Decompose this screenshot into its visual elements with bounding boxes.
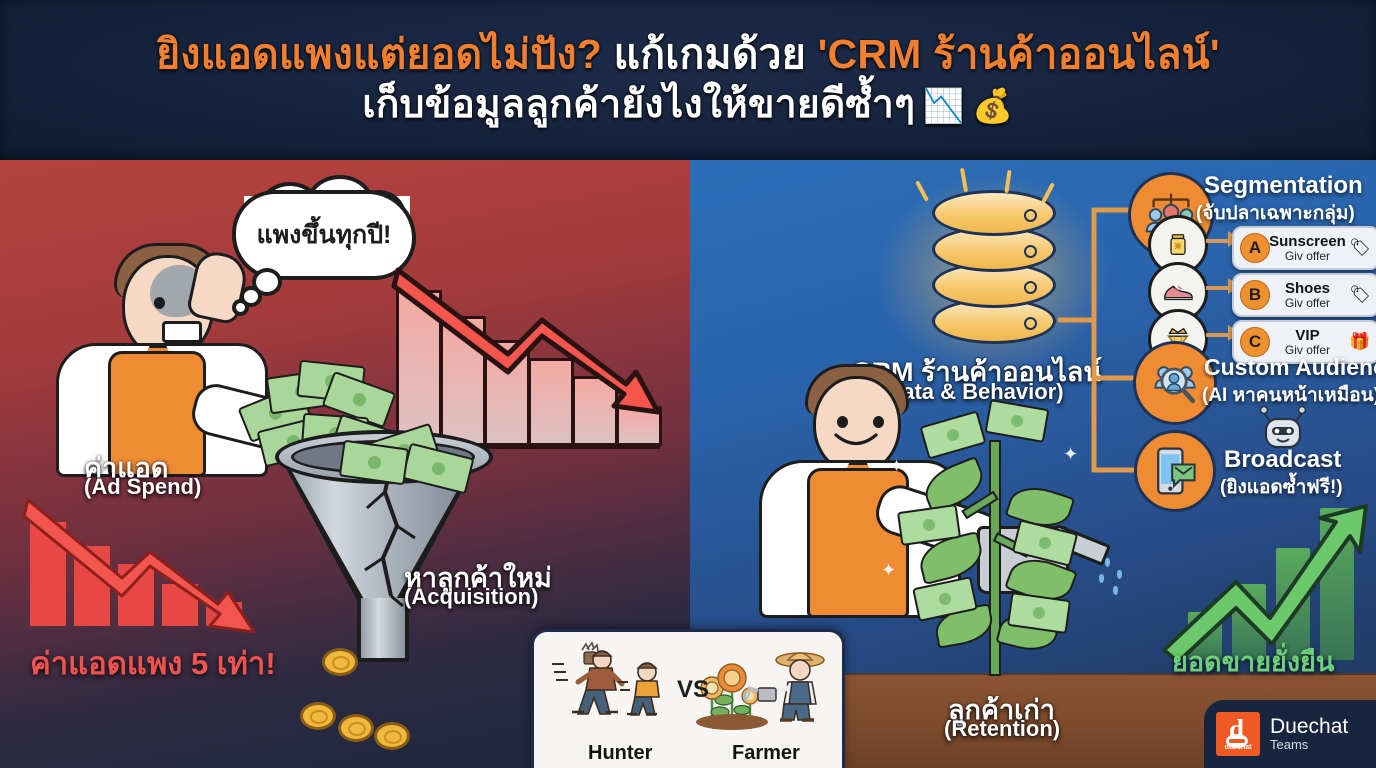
owner-eye-left — [154, 297, 165, 309]
hunter-figure — [552, 643, 622, 714]
arrow-b — [1206, 286, 1230, 290]
logo-mark-caption: duechat — [1220, 744, 1256, 752]
farmer-eye-left — [837, 416, 848, 428]
broadcast-title: Broadcast — [1224, 446, 1341, 474]
offer-badge-a: A — [1240, 233, 1270, 263]
farmer-small-figure — [744, 653, 824, 720]
offer-badge-c: C — [1240, 327, 1270, 357]
discount-tag-icon-a: 🏷 — [1347, 238, 1373, 258]
chart-down-emoji-icon: 📉 — [923, 89, 964, 122]
money-plant-illustration: ✦ ✦ ✦ — [905, 400, 1085, 680]
growth-label-th: ยอดขายยั่งยืน — [1172, 640, 1334, 683]
farmer-eye-right — [873, 416, 884, 428]
headline-line-1: ยิงแอดแพงแต่ยอดไม่ปัง? แก้เกมด้วย 'CRM ร… — [156, 29, 1220, 79]
sunscreen-glyph — [1164, 231, 1192, 259]
falling-coin-1 — [322, 648, 358, 676]
falling-coin-3 — [338, 714, 374, 742]
offer-badge-b: B — [1240, 280, 1270, 310]
header-banner: ยิงแอดแพงแต่ยอดไม่ปัง? แก้เกมด้วย 'CRM ร… — [0, 0, 1376, 160]
sparkle-3: ✦ — [881, 560, 896, 581]
leaky-funnel-illustration — [275, 430, 485, 660]
thought-bubble-text: แพงขึ้นทุกปี! — [257, 215, 392, 255]
arrow-a — [1206, 239, 1230, 243]
sparkle-2: ✦ — [1063, 444, 1078, 465]
brand-logo[interactable]: d duechat Duechat Teams — [1204, 700, 1376, 768]
headline-line-2: เก็บข้อมูลลูกค้ายังไงให้ขายดีซ้ำๆ 📉 💰 — [362, 79, 1013, 131]
segmentation-subtitle: (จับปลาเฉพาะกลุ่ม) — [1196, 198, 1355, 228]
offer-name-b: Shoes — [1268, 281, 1347, 296]
headline-bridge: แก้เกมด้วย — [614, 31, 806, 77]
headline-hook: ยิงแอดแพงแต่ยอดไม่ปัง? — [156, 31, 602, 77]
growing-sales-chart — [1160, 500, 1375, 660]
falling-coin-2 — [300, 702, 336, 730]
phone-message-icon — [1148, 444, 1202, 498]
acquisition-label-en: (Acquisition) — [404, 584, 538, 610]
farmer-smile — [833, 432, 879, 452]
ad-cost-decline-chart — [22, 492, 272, 634]
shoe-glyph — [1162, 280, 1194, 304]
headline-keyword: 'CRM ร้านค้าออนไลน์' — [818, 31, 1220, 77]
offer-card-b[interactable]: B Shoes Giv offer 🏷 — [1232, 273, 1376, 317]
sparkle-1: ✦ — [889, 456, 904, 477]
bubble-tail-3 — [232, 299, 249, 316]
small-down-chart-svg — [22, 492, 272, 634]
hunter-vs-farmer-card: VS Hunter Farmer — [531, 629, 845, 768]
offer-sub-a: Giv offer — [1268, 250, 1347, 262]
offer-card-a[interactable]: A Sunscreen Giv offer 🏷 — [1232, 226, 1376, 270]
owner-mouth — [162, 321, 202, 343]
headline-subline: เก็บข้อมูลลูกค้ายังไงให้ขายดีซ้ำๆ — [362, 79, 915, 131]
money-bag-emoji-icon: 💰 — [972, 89, 1013, 122]
crm-database-icon — [932, 190, 1050, 348]
arrow-c — [1206, 333, 1230, 337]
hunter-label: Hunter — [588, 742, 652, 765]
infographic-canvas: ยิงแอดแพงแต่ยอดไม่ปัง? แก้เกมด้วย 'CRM ร… — [0, 0, 1376, 768]
logo-brand-name: Duechat — [1270, 716, 1348, 738]
five-times-cost-label: ค่าแอดแพง 5 เท่า! — [30, 638, 276, 688]
ad-spend-label-en: (Ad Spend) — [84, 474, 201, 500]
retention-label-en: (Retention) — [944, 716, 1060, 742]
broadcast-subtitle: (ยิงแอดซ้ำฟรี!) — [1220, 472, 1343, 502]
hunter-child-figure — [618, 663, 659, 715]
custom-audience-title: Custom Audience — [1204, 354, 1376, 381]
segmentation-title: Segmentation — [1204, 172, 1363, 200]
falling-coin-4 — [374, 722, 410, 750]
up-trend-arrow-icon — [1160, 500, 1375, 660]
gift-box-icon-c: 🎁 — [1347, 332, 1373, 352]
offer-name-a: Sunscreen — [1268, 234, 1347, 249]
vs-label: VS — [677, 676, 709, 704]
farmer-label: Farmer — [732, 742, 800, 765]
down-trend-arrow-icon — [390, 264, 668, 424]
audience-search-icon — [1147, 355, 1203, 411]
duechat-logo-mark-icon: d duechat — [1216, 712, 1260, 756]
discount-tag-icon-b: 🏷 — [1347, 285, 1373, 305]
offer-sub-b: Giv offer — [1268, 297, 1347, 309]
offer-name-c: VIP — [1268, 328, 1347, 343]
logo-brand-subtitle: Teams — [1270, 738, 1348, 752]
